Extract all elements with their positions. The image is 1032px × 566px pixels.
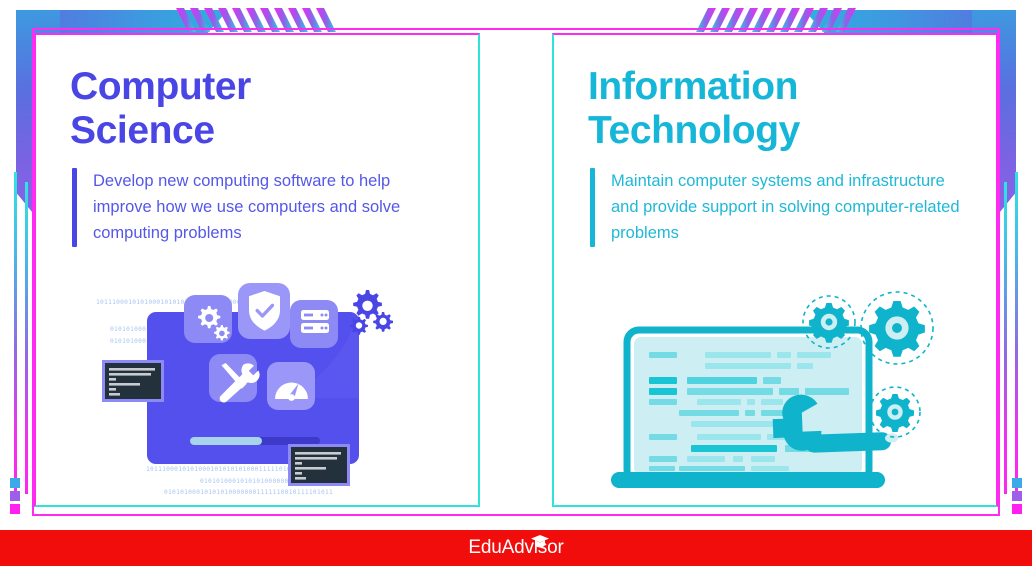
gradient-rail-right-outer [1015,172,1018,494]
panel-computer-science: Computer Science Develop new computing s… [34,33,480,507]
dot-cyan [10,478,20,488]
dot-purple [10,491,20,501]
accent-bar-it [590,168,595,246]
corner-dots-left [10,478,20,514]
corner-dots-right [1012,478,1022,514]
infographic-canvas: Computer Science Develop new computing s… [0,0,1032,566]
eduadvisor-logo[interactable]: EduAdvisor [468,537,563,559]
computer-science-illustration: 1011100010101000101010101010101010000000… [36,282,478,497]
panel-information-technology: Information Technology Maintain computer… [552,33,998,507]
gradient-rail-left-outer [14,172,17,494]
dot-magenta [10,504,20,514]
panel-description-computer-science: Develop new computing software to help i… [93,168,446,246]
gradient-rail-right-inner [1004,182,1007,494]
footer-bar: EduAdvisor [0,530,1032,566]
panel-description-information-technology: Maintain computer systems and infrastruc… [611,168,964,246]
gradient-rail-left-inner [25,182,28,494]
diagonal-stripes-right-icon [688,8,856,32]
dot-magenta [1012,504,1022,514]
corner-bracket-top-left-bar [16,10,228,34]
accent-bar-cs [72,168,77,246]
panel-description-block-it: Maintain computer systems and infrastruc… [588,168,964,246]
panel-title-computer-science: Computer Science [70,65,446,152]
panel-description-block-cs: Develop new computing software to help i… [70,168,446,246]
corner-bracket-top-right-bar [804,10,1016,34]
diagonal-stripes-left-icon [176,8,344,32]
dot-cyan [1012,478,1022,488]
graduation-cap-icon [531,532,549,554]
dot-purple [1012,491,1022,501]
information-technology-illustration [554,282,996,497]
svg-text:010101000101010100000001111110: 0101010001010101000000011111100101111010… [164,489,333,496]
panel-title-information-technology: Information Technology [588,65,964,152]
